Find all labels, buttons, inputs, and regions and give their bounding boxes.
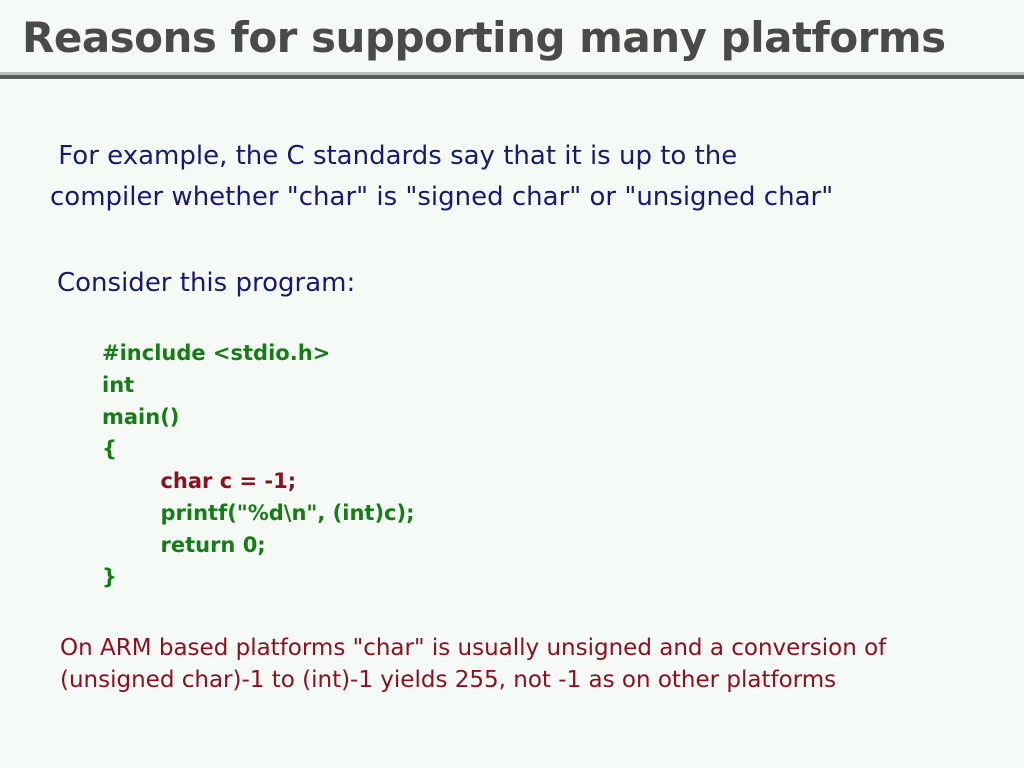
page-title: Reasons for supporting many platforms <box>22 14 1002 62</box>
code-line: { <box>102 433 415 465</box>
consider-program-label: Consider this program: <box>57 263 657 304</box>
arm-platform-note: On ARM based platforms "char" is usually… <box>60 632 990 696</box>
code-line: return 0; <box>102 529 415 561</box>
code-line: #include <stdio.h> <box>102 337 415 369</box>
code-line: int <box>102 369 415 401</box>
title-divider-dark-band <box>0 75 1024 79</box>
code-line: } <box>102 561 415 593</box>
code-listing: #include <stdio.h>intmain(){ char c = -1… <box>102 337 415 593</box>
intro-paragraph: For example, the C standards say that it… <box>50 136 1000 218</box>
code-line: char c = -1; <box>102 465 415 497</box>
code-line: printf("%d\n", (int)c); <box>102 497 415 529</box>
code-line: main() <box>102 401 415 433</box>
title-divider <box>0 72 1024 79</box>
slide-canvas: Reasons for supporting many platforms Fo… <box>0 0 1024 768</box>
